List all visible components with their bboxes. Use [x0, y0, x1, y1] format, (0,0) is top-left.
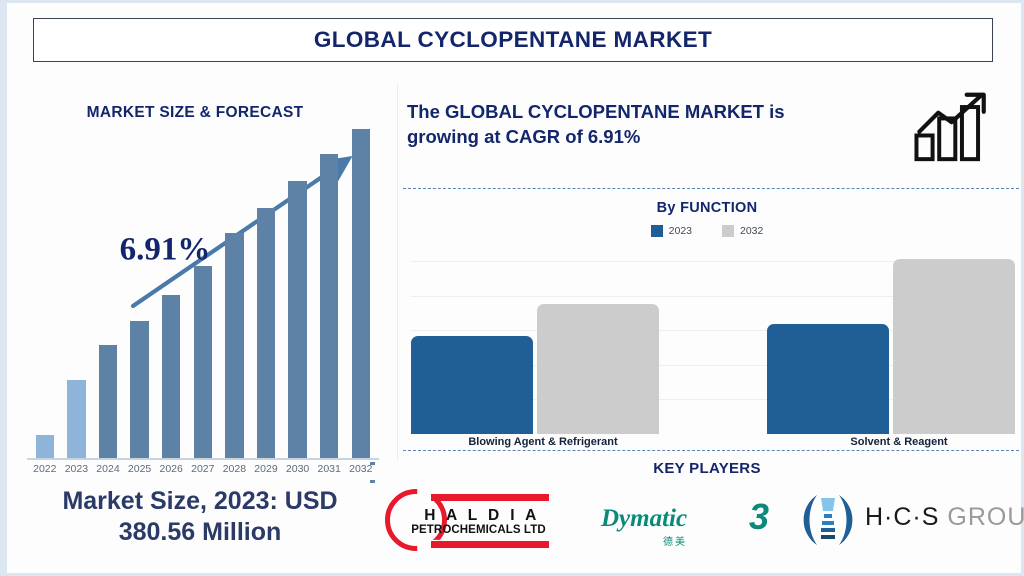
market-size-bar: [288, 181, 307, 458]
cagr-headline-line1: The GLOBAL CYCLOPENTANE MARKET is: [407, 100, 877, 125]
legend-item-2032[interactable]: 2032: [722, 225, 763, 237]
cagr-headline-line2: growing at CAGR of 6.91%: [407, 125, 877, 150]
market-size-bar: [257, 208, 276, 458]
function-bar-2023: [411, 336, 533, 434]
year-label: 2032: [342, 463, 380, 475]
year-axis-labels: 2022202320242025202620272028202920302031…: [15, 463, 393, 483]
dymatic-symbol-icon: 3: [749, 499, 769, 535]
key-players-title: KEY PLAYERS: [399, 460, 1015, 477]
axis-end-dashes: [370, 452, 384, 455]
right-panel: The GLOBAL CYCLOPENTANE MARKET is growin…: [399, 78, 1024, 571]
hcs-emblem-icon: [797, 489, 859, 551]
legend-swatch: [722, 225, 734, 237]
legend-swatch: [651, 225, 663, 237]
market-size-bar: [36, 435, 55, 458]
panel-divider: [397, 83, 398, 461]
market-size-bar: [320, 154, 339, 458]
function-bar-2032: [537, 304, 659, 434]
page-title: GLOBAL CYCLOPENTANE MARKET: [314, 27, 712, 53]
legend-label: 2032: [740, 225, 763, 237]
haldia-bar-top: [431, 494, 549, 501]
by-function-legend: 20232032: [399, 225, 1015, 237]
function-category-label: Solvent & Reagent: [747, 436, 1024, 448]
haldia-subtext: PETROCHEMICALS LTD: [391, 524, 566, 536]
market-size-value-line2: 380.56 Million: [15, 517, 385, 548]
dymatic-wordmark: Dymatic: [601, 505, 687, 533]
legend-item-2023[interactable]: 2023: [651, 225, 692, 237]
key-players-logos: H A L D I A PETROCHEMICALS LTD Dymatic 德…: [379, 483, 1024, 568]
market-size-value-line1: Market Size, 2023: USD: [15, 486, 385, 517]
market-size-bar: [67, 380, 86, 458]
market-size-bar: [352, 129, 371, 458]
divider-dashed-bottom: [403, 450, 1019, 451]
logo-hcs-group: H·C·S GROUP: [795, 483, 1024, 559]
infographic-page: GLOBAL CYCLOPENTANE MARKET MARKET SIZE &…: [0, 0, 1024, 576]
divider-dashed-top: [403, 188, 1019, 189]
legend-label: 2023: [669, 225, 692, 237]
hcs-group-word: GROUP: [947, 503, 1024, 531]
growth-bar-arrow-icon: [913, 90, 1009, 162]
chart-axis-line: [27, 458, 379, 460]
hcs-wordmark: H·C·S GROUP: [865, 503, 1024, 532]
market-size-bar: [194, 266, 213, 458]
by-function-title: By FUNCTION: [399, 200, 1015, 216]
page-title-box: GLOBAL CYCLOPENTANE MARKET: [33, 18, 993, 62]
function-category-label: Blowing Agent & Refrigerant: [391, 436, 695, 448]
market-size-bar-chart: [15, 78, 393, 478]
market-size-bar: [99, 345, 118, 458]
dymatic-subtext: 德美: [663, 533, 687, 548]
function-bar-2032: [893, 259, 1015, 434]
cagr-headline: The GLOBAL CYCLOPENTANE MARKET is growin…: [407, 100, 877, 150]
haldia-wordmark: H A L D I A: [401, 507, 563, 525]
market-size-value: Market Size, 2023: USD 380.56 Million: [15, 486, 385, 548]
function-bar-2023: [767, 324, 889, 434]
market-size-bar: [225, 233, 244, 458]
haldia-bar-bottom: [431, 541, 549, 548]
market-size-forecast-panel: MARKET SIZE & FORECAST 6.91% 20222023202…: [15, 78, 393, 571]
by-function-bar-chart: [403, 244, 1019, 434]
market-size-bar: [162, 295, 181, 458]
market-size-bar: [130, 321, 149, 458]
hcs-initials: H·C·S: [865, 503, 939, 531]
logo-dymatic: Dymatic 德美 3: [601, 483, 771, 559]
logo-haldia-petrochemicals: H A L D I A PETROCHEMICALS LTD: [379, 483, 569, 559]
